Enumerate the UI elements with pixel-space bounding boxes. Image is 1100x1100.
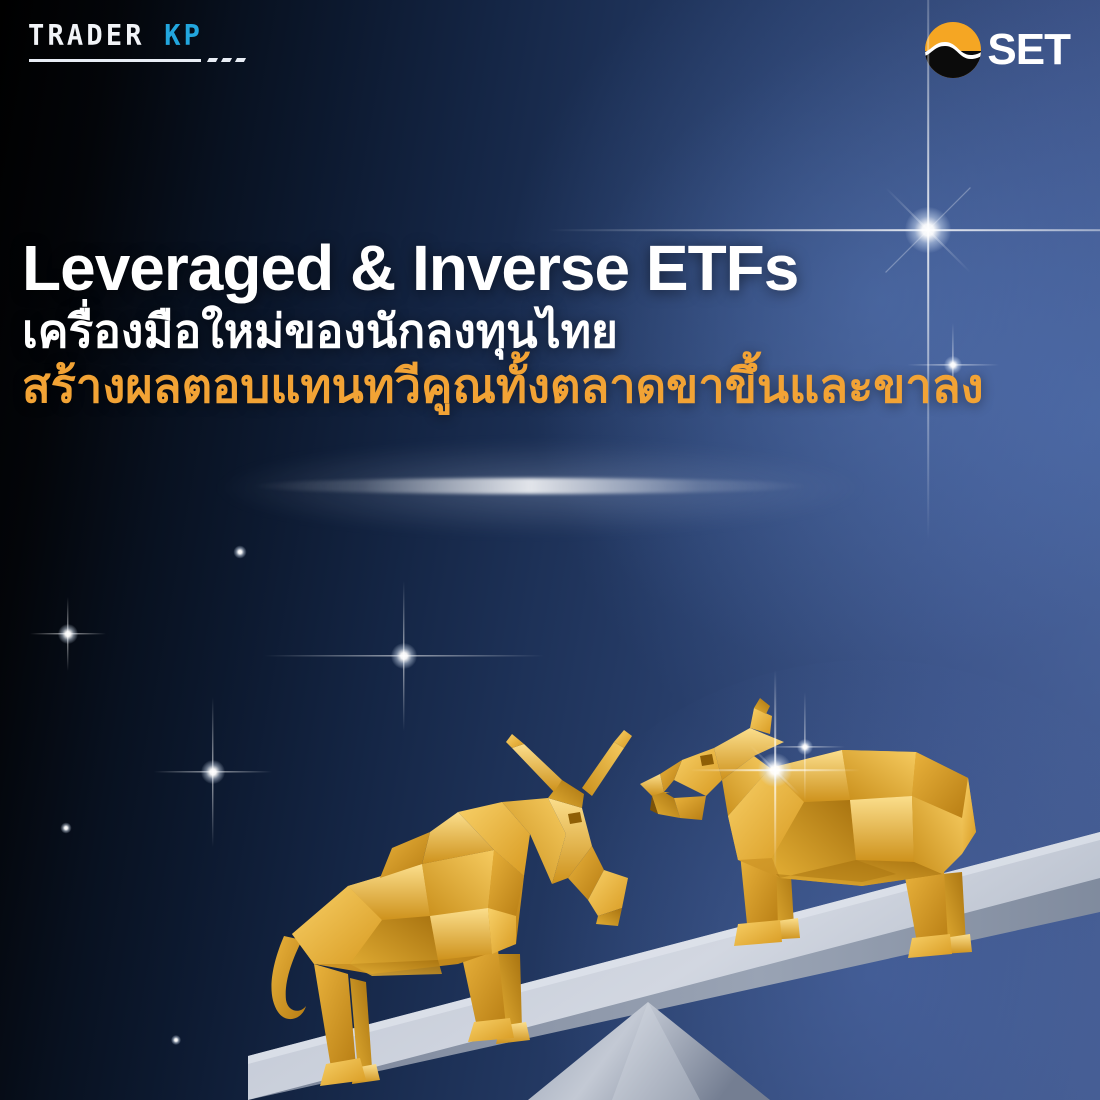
star-sparkle-ray-horizontal bbox=[30, 633, 106, 634]
star-sparkle-core bbox=[58, 624, 78, 644]
headline-block: Leveraged & Inverse ETFs เครื่องมือใหม่ข… bbox=[22, 236, 1100, 412]
star-sparkle-core bbox=[766, 926, 775, 935]
poster-canvas: TRADER KP SET bbox=[0, 0, 1100, 1100]
star-sparkle-ray-horizontal bbox=[154, 771, 272, 772]
trader-kp-logo-slash-2 bbox=[221, 58, 232, 62]
headline-light-halo bbox=[210, 440, 870, 536]
page-title: Leveraged & Inverse ETFs bbox=[22, 236, 1100, 300]
star-sparkle-ray-horizontal bbox=[690, 769, 860, 771]
star-sparkle-burst bbox=[750, 745, 801, 796]
page-subtitle: เครื่องมือใหม่ของนักลงทุนไทย bbox=[22, 306, 1100, 358]
seesaw-fulcrum-triangle bbox=[528, 1002, 770, 1100]
balance-seesaw-plank bbox=[248, 832, 1100, 1100]
star-sparkle-core bbox=[777, 911, 787, 921]
star-sparkle-ray-vertical bbox=[403, 581, 404, 731]
trader-kp-logo-main: TRADER bbox=[28, 20, 145, 53]
gold-low-poly-bull bbox=[271, 730, 632, 1086]
trader-kp-logo-slash-3 bbox=[235, 58, 246, 62]
star-sparkle-ray-horizontal bbox=[264, 655, 544, 656]
star-sparkle-core bbox=[939, 912, 951, 924]
trader-kp-logo-slash-1 bbox=[207, 58, 218, 62]
star-sparkle-core bbox=[171, 1035, 181, 1045]
set-icon-wave bbox=[925, 42, 981, 62]
trader-kp-logo-accent: KP bbox=[164, 20, 203, 53]
star-sparkle-ray-vertical bbox=[774, 670, 776, 870]
set-logo-word: SET bbox=[987, 28, 1070, 72]
star-sparkle-ray-horizontal bbox=[765, 746, 845, 747]
star-sparkle-core bbox=[234, 546, 247, 559]
star-sparkle-core bbox=[391, 643, 417, 669]
star-sparkle-core bbox=[758, 753, 792, 787]
headline-light-streak bbox=[250, 478, 810, 494]
star-sparkle-ray-vertical bbox=[804, 692, 805, 802]
trader-kp-logo[interactable]: TRADER KP bbox=[28, 22, 248, 74]
trader-kp-logo-text: TRADER KP bbox=[28, 22, 248, 50]
star-sparkle-core bbox=[61, 823, 72, 834]
set-logo[interactable]: SET bbox=[925, 20, 1070, 80]
background-glow-bottom-right bbox=[520, 660, 1100, 1100]
gold-low-poly-bear bbox=[640, 698, 976, 958]
star-sparkle-core bbox=[201, 760, 225, 784]
page-accent-line: สร้างผลตอบแทนทวีคูณทั้งตลาดขาขึ้นและขาลง bbox=[22, 360, 1100, 413]
set-sun-wave-icon bbox=[925, 22, 981, 78]
star-sparkle-ray-vertical bbox=[212, 697, 213, 847]
star-sparkle-core bbox=[797, 739, 813, 755]
star-sparkle-ray-vertical bbox=[67, 597, 68, 671]
bull-bear-seesaw-illustration bbox=[0, 0, 1100, 1100]
trader-kp-logo-rule bbox=[29, 59, 201, 62]
star-sparkle-ray-horizontal bbox=[548, 229, 1100, 231]
